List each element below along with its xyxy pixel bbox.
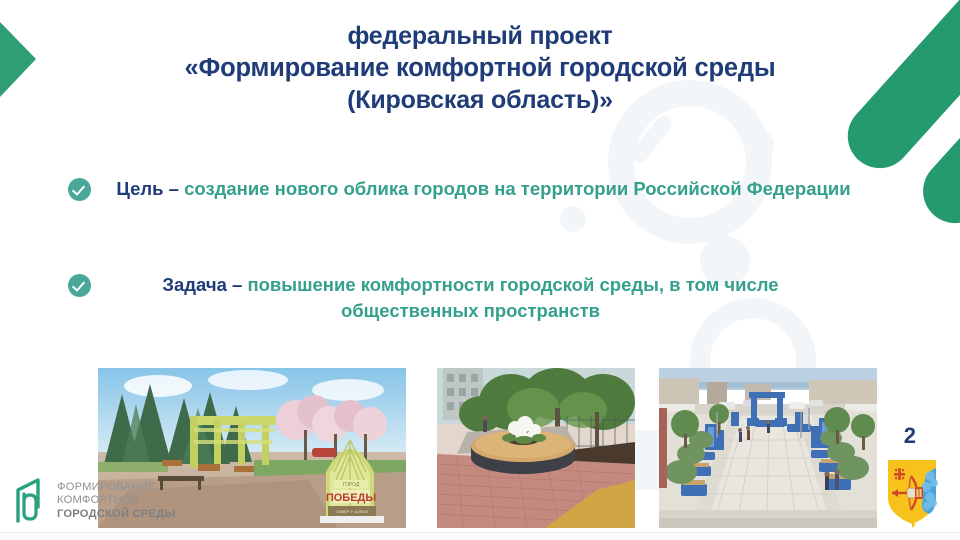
bullet-goal: Цель – создание нового облика городов на… bbox=[68, 176, 888, 202]
brand-line-2: КОМФОРТНОЙ bbox=[57, 494, 175, 508]
bullet-task-keyword: Задача bbox=[162, 274, 226, 295]
brand-line-1: ФОРМИРОВАНИЕ bbox=[57, 481, 175, 495]
svg-text:ГОРОД: ГОРОД bbox=[343, 482, 360, 488]
svg-text:СКВЕР У АЛЛЕИ: СКВЕР У АЛЛЕИ bbox=[336, 509, 368, 514]
brand-line-3: ГОРОДСКОЙ СРЕДЫ bbox=[57, 508, 175, 522]
bullet-task-body: повышение комфортности городской среды, … bbox=[247, 274, 778, 321]
svg-text:ПОБЕДЫ: ПОБЕДЫ bbox=[326, 492, 377, 504]
house-outline-icon bbox=[14, 477, 48, 525]
bullet-goal-text: Цель – создание нового облика городов на… bbox=[91, 176, 888, 202]
page-number: 2 bbox=[904, 423, 916, 449]
kirov-oblast-coat-of-arms-icon bbox=[883, 456, 941, 528]
watermark-bar bbox=[629, 113, 675, 165]
title-line-3: (Кировская область)» bbox=[120, 84, 840, 116]
bullet-goal-dash: – bbox=[164, 178, 185, 199]
bullet-task-text: Задача – повышение комфортности городско… bbox=[91, 272, 888, 324]
watermark-dot-a bbox=[744, 130, 774, 160]
corner-stripe-outer bbox=[835, 0, 960, 181]
slide-title: федеральный проект «Формирование комфорт… bbox=[120, 20, 840, 116]
check-circle-icon bbox=[68, 178, 91, 201]
bullet-goal-body: создание нового облика городов на террит… bbox=[184, 178, 851, 199]
bottom-band bbox=[0, 533, 960, 540]
title-line-1: федеральный проект bbox=[120, 20, 840, 52]
watermark-dot-b bbox=[560, 206, 586, 232]
brand-logo: ФОРМИРОВАНИЕ КОМФОРТНОЙ ГОРОДСКОЙ СРЕДЫ bbox=[14, 477, 175, 525]
title-line-2: «Формирование комфортной городской среды bbox=[120, 52, 840, 84]
left-triangle-decoration bbox=[0, 22, 36, 97]
slide-canvas: федеральный проект «Формирование комфорт… bbox=[0, 0, 960, 540]
photo-public-square-render bbox=[659, 368, 877, 528]
bullet-task: Задача – повышение комфортности городско… bbox=[68, 272, 888, 324]
bullet-goal-keyword: Цель bbox=[116, 178, 163, 199]
brand-wordmark: ФОРМИРОВАНИЕ КОМФОРТНОЙ ГОРОДСКОЙ СРЕДЫ bbox=[57, 481, 175, 522]
photo-courtyard-flower-bench bbox=[437, 368, 635, 528]
check-circle-icon bbox=[68, 274, 91, 297]
bullet-task-dash: – bbox=[227, 274, 248, 295]
